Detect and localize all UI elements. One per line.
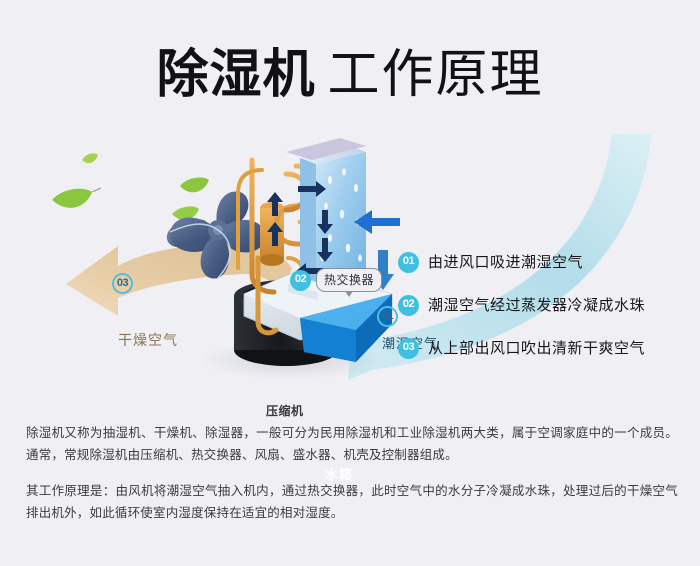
- list-item: 03 从上部出风口吹出清新干爽空气: [398, 338, 645, 359]
- dry-air-label: 干燥空气: [118, 330, 178, 350]
- leaf-group: [52, 153, 209, 220]
- step-text: 由进风口吸进潮湿空气: [428, 255, 583, 270]
- humid-air-badge: 01: [377, 306, 398, 327]
- leaf-stem: [92, 188, 101, 192]
- heat-exchanger-badge-number: 02: [290, 270, 311, 291]
- step-badge-number: 01: [398, 252, 419, 273]
- list-item: 01 由进风口吸进潮湿空气: [398, 252, 645, 273]
- step-text: 从上部出风口吹出清新干爽空气: [428, 341, 645, 356]
- step-text: 潮湿空气经过蒸发器冷凝成水珠: [428, 298, 645, 313]
- step-badge-number: 03: [398, 338, 419, 359]
- leaf-icon: [180, 178, 209, 193]
- paragraph-1: 除湿机又称为抽湿机、干燥机、除湿器，一般可分为民用除湿机和工业除湿机两大类，属于…: [26, 422, 678, 466]
- page-title-bold: 除湿机: [156, 46, 315, 104]
- dry-air-badge: 03: [112, 273, 133, 294]
- heat-exchanger-label: 热交换器: [316, 268, 382, 292]
- leaf-icon: [82, 153, 98, 163]
- leaf-icon: [52, 189, 92, 208]
- step-list: 01 由进风口吸进潮湿空气 02 潮湿空气经过蒸发器冷凝成水珠 03 从上部出风…: [398, 252, 645, 381]
- list-item: 02 潮湿空气经过蒸发器冷凝成水珠: [398, 295, 645, 316]
- heat-exchanger-callout: 02热交换器: [290, 268, 382, 292]
- compressor-label: 压缩机: [266, 402, 304, 419]
- paragraph-2: 其工作原理是：由风机将潮湿空气抽入机内，通过热交换器，此时空气中的水分子冷凝成水…: [26, 480, 678, 524]
- body-copy: 除湿机又称为抽湿机、干燥机、除湿器，一般可分为民用除湿机和工业除湿机两大类，属于…: [26, 422, 678, 524]
- page-title-light: 工作原理: [328, 46, 544, 104]
- dry-air-badge-number: 03: [112, 273, 133, 294]
- step-badge-number: 02: [398, 295, 419, 316]
- dehumidifier-infographic: 除湿机工作原理: [0, 0, 700, 566]
- humid-air-badge-number: 01: [377, 306, 398, 327]
- evaporator: [300, 146, 366, 282]
- page-title: 除湿机工作原理: [0, 32, 700, 107]
